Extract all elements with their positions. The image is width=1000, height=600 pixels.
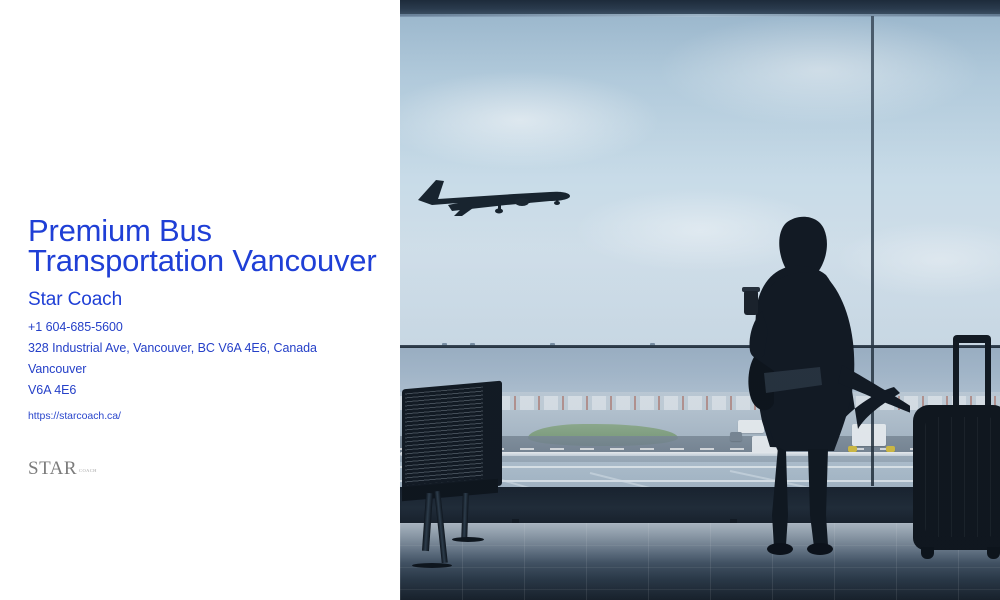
logo-wordmark: STAR <box>28 459 77 478</box>
person-shape <box>730 215 910 555</box>
bench-leg <box>434 491 447 563</box>
suitcase-wheel <box>987 547 1000 559</box>
bench-leg <box>461 493 469 541</box>
page-title: Premium Bus Transportation Vancouver <box>28 216 378 276</box>
rolling-suitcase <box>905 325 1000 570</box>
business-info-content: Premium Bus Transportation Vancouver Sta… <box>28 216 378 425</box>
waiting-bench <box>402 385 520 585</box>
bench-mesh-texture <box>405 387 483 486</box>
business-city: Vancouver <box>28 359 378 380</box>
brand-logo: STAR COACH <box>28 452 97 478</box>
business-website-link[interactable]: https://starcoach.ca/ <box>28 408 121 425</box>
bench-foot <box>412 563 452 568</box>
business-phone[interactable]: +1 604-685-5600 <box>28 317 378 338</box>
business-address: 328 Industrial Ave, Vancouver, BC V6A 4E… <box>28 338 378 359</box>
business-info-panel: Premium Bus Transportation Vancouver Sta… <box>0 0 400 600</box>
suitcase-handle-post <box>953 339 959 411</box>
bench-foot <box>452 537 484 542</box>
business-listing-banner: Premium Bus Transportation Vancouver Sta… <box>0 0 1000 600</box>
suitcase-wheel <box>921 547 934 559</box>
ceiling-edge-highlight <box>400 14 1000 17</box>
logo-subtext: COACH <box>79 467 97 478</box>
suitcase-ribbing <box>925 417 997 537</box>
coffee-cup <box>744 291 758 315</box>
suitcase-handle-post <box>985 339 991 411</box>
airplane-icon <box>410 172 578 218</box>
business-postal-code: V6A 4E6 <box>28 380 378 401</box>
bench-leg <box>422 493 433 551</box>
hero-photo <box>400 0 1000 600</box>
traveler-silhouette <box>730 215 910 555</box>
business-name: Star Coach <box>28 288 378 312</box>
